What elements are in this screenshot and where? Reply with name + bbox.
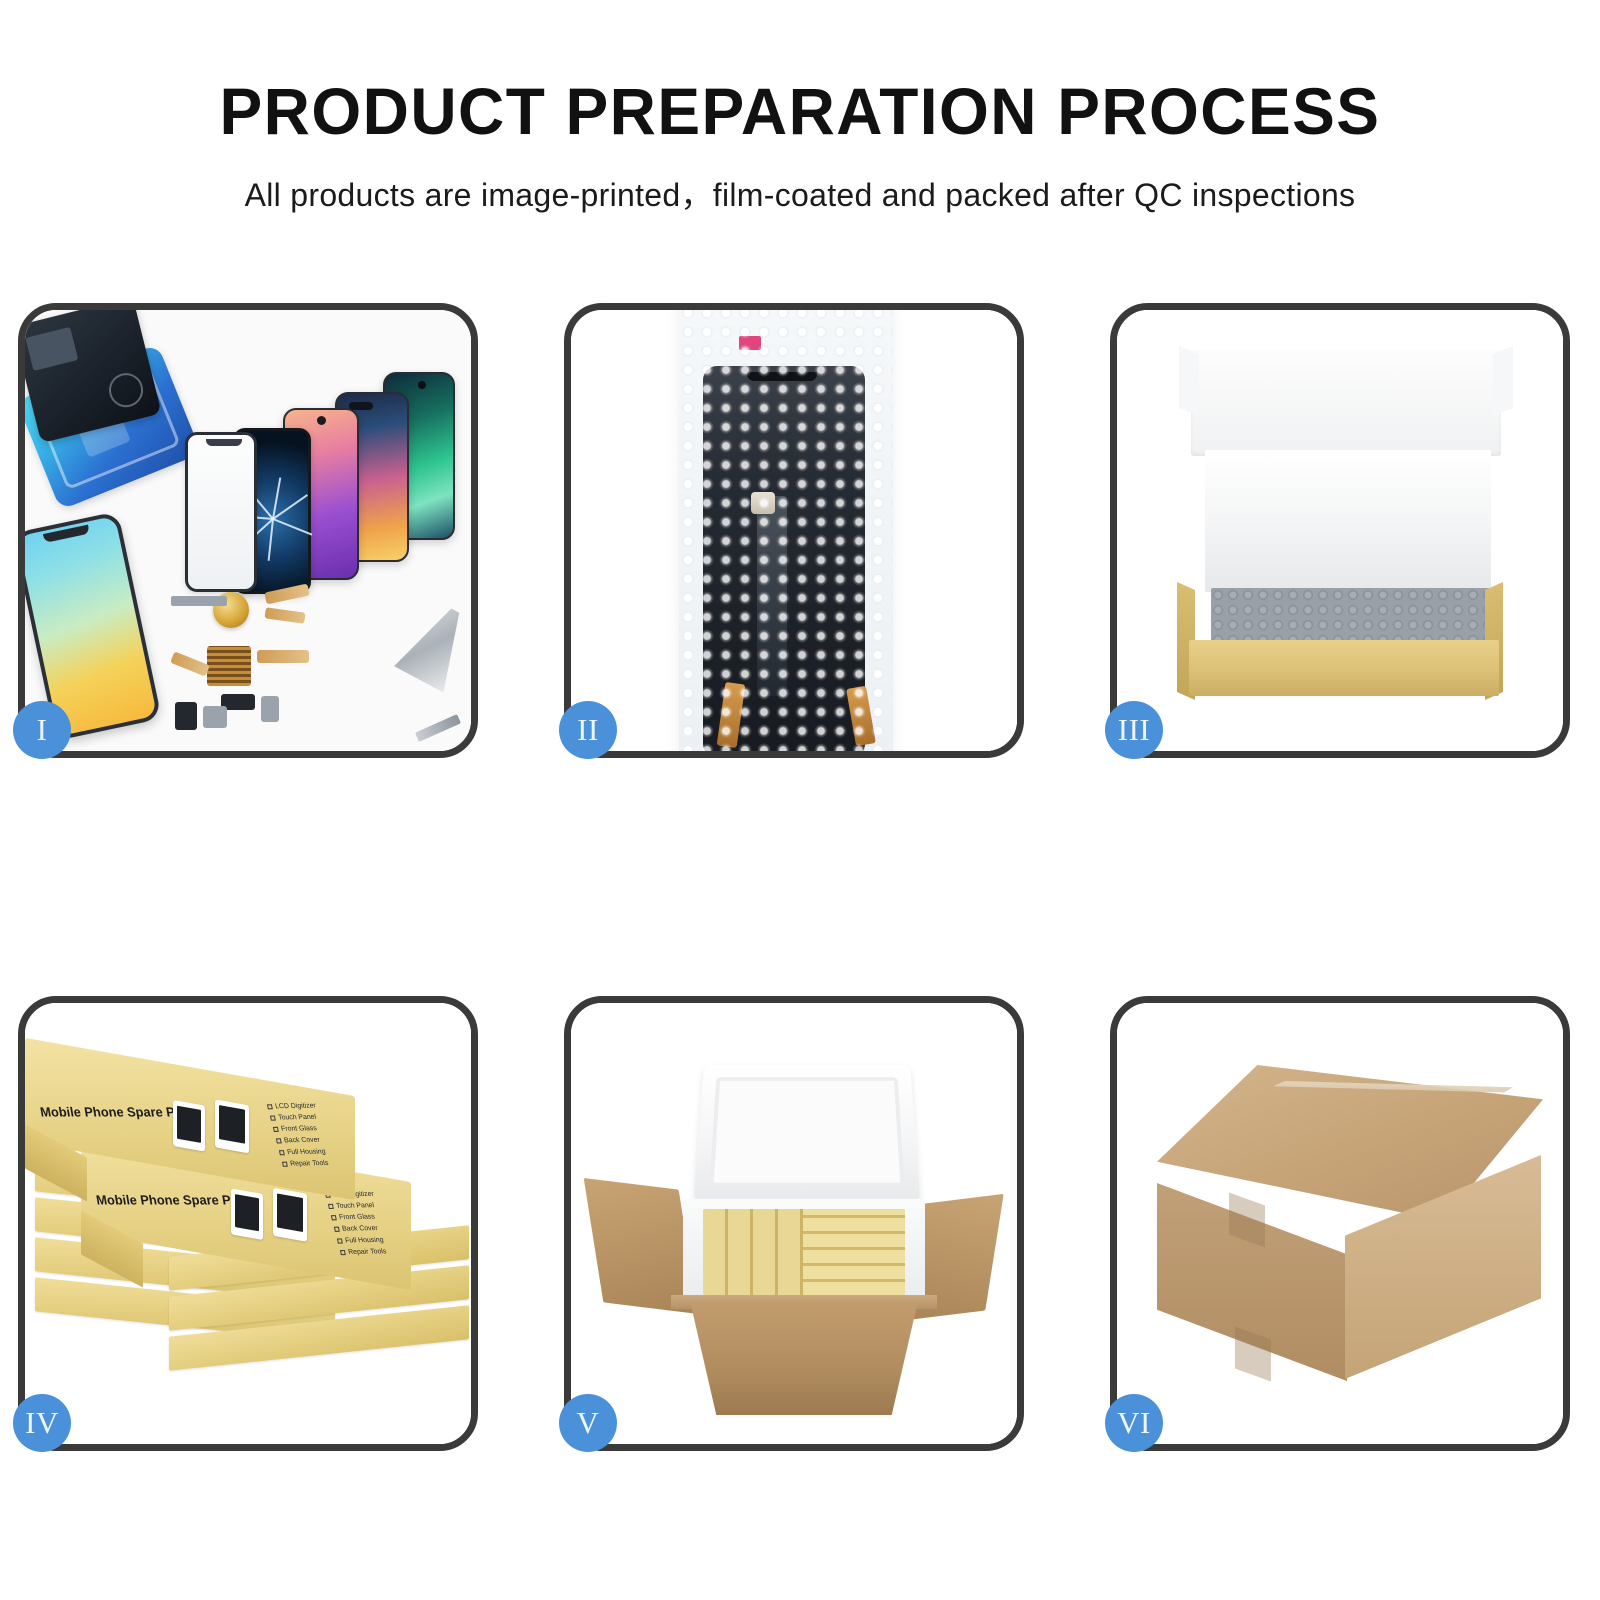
step-badge-5: V bbox=[559, 1394, 617, 1452]
box2-check-2: Front Glass bbox=[339, 1213, 376, 1221]
box2-check-3: Back Cover bbox=[342, 1225, 379, 1233]
process-step-panel-4: Mobile Phone Spare Parts LCD Digitizer T… bbox=[18, 996, 478, 1451]
box2-check-4: Full Housing bbox=[345, 1237, 385, 1245]
panel-image-6 bbox=[1117, 1003, 1563, 1444]
phone-parts-collage-image bbox=[25, 310, 471, 751]
box-phone-thumb-1b bbox=[215, 1099, 249, 1153]
process-step-panel-5: V bbox=[564, 996, 1024, 1451]
retail-box-stack-image: Mobile Phone Spare Parts LCD Digitizer T… bbox=[25, 1003, 471, 1444]
volume-button-flex bbox=[257, 650, 309, 663]
white-foam-liner bbox=[1205, 450, 1491, 592]
carton-flap-left bbox=[584, 1178, 699, 1314]
gold-tray-box-image bbox=[1117, 310, 1563, 751]
screwdriver-tool bbox=[415, 714, 461, 742]
foam-lid-open bbox=[694, 1065, 921, 1202]
infographic-page: PRODUCT PREPARATION PROCESS All products… bbox=[0, 0, 1600, 1600]
step-badge-2: II bbox=[559, 701, 617, 759]
box-phone-thumb-1a bbox=[173, 1100, 205, 1152]
box1-check-1: Touch Panel bbox=[278, 1114, 317, 1122]
box1-check-4: Full Housing bbox=[287, 1148, 327, 1156]
process-step-panel-3: III bbox=[1110, 303, 1570, 758]
bubble-wrap-overlay bbox=[679, 310, 893, 751]
process-step-panel-1: I bbox=[18, 303, 478, 758]
vibration-motor bbox=[261, 696, 279, 722]
box1-check-3: Back Cover bbox=[284, 1137, 321, 1145]
step-badge-4: IV bbox=[13, 1394, 71, 1452]
gold-tray-front bbox=[1189, 640, 1499, 696]
page-subtitle: All products are image-printed，film-coat… bbox=[0, 170, 1600, 216]
power-button-flex bbox=[170, 651, 210, 676]
header: PRODUCT PREPARATION PROCESS All products… bbox=[0, 78, 1600, 216]
gold-boxes-bundle-right bbox=[803, 1209, 905, 1295]
step-badge-3: III bbox=[1105, 701, 1163, 759]
sim-tray bbox=[175, 702, 197, 730]
box1-check-0: LCD Digitizer bbox=[275, 1102, 317, 1110]
panel-image-2 bbox=[571, 310, 1017, 751]
bubble-wrapped-contents bbox=[1211, 588, 1491, 642]
panel-image-4: Mobile Phone Spare Parts LCD Digitizer T… bbox=[25, 1003, 471, 1444]
box-phone-thumb-2a bbox=[231, 1188, 263, 1240]
bga-chip bbox=[207, 646, 251, 686]
box2-check-5: Repair Tools bbox=[348, 1248, 387, 1256]
box-lid-open bbox=[1191, 350, 1501, 456]
step-badge-1: I bbox=[13, 701, 71, 759]
box-phone-thumb-2b bbox=[273, 1188, 307, 1242]
box1-check-2: Front Glass bbox=[281, 1125, 318, 1133]
front-glass-panel bbox=[185, 432, 257, 592]
tweezers-tool bbox=[394, 597, 471, 692]
panel-image-3 bbox=[1117, 310, 1563, 751]
bubble-wrapped-screen-image bbox=[571, 310, 1017, 751]
process-step-panel-2: II bbox=[564, 303, 1024, 758]
foam-carton-packing-image bbox=[571, 1003, 1017, 1444]
flex-cable-2 bbox=[264, 607, 305, 623]
panel-image-5 bbox=[571, 1003, 1017, 1444]
box2-check-1: Touch Panel bbox=[336, 1202, 375, 1210]
carton-front-face bbox=[675, 1303, 933, 1415]
earpiece-mesh bbox=[171, 596, 227, 606]
step-badge-6: VI bbox=[1105, 1394, 1163, 1452]
box1-check-5: Repair Tools bbox=[290, 1160, 329, 1168]
sealed-shipping-carton-image bbox=[1117, 1003, 1563, 1444]
process-step-grid: I II bbox=[18, 303, 1570, 1451]
camera-module bbox=[203, 706, 227, 728]
process-step-panel-6: VI bbox=[1110, 996, 1570, 1451]
panel-image-1 bbox=[25, 310, 471, 751]
page-title: PRODUCT PREPARATION PROCESS bbox=[24, 78, 1576, 144]
